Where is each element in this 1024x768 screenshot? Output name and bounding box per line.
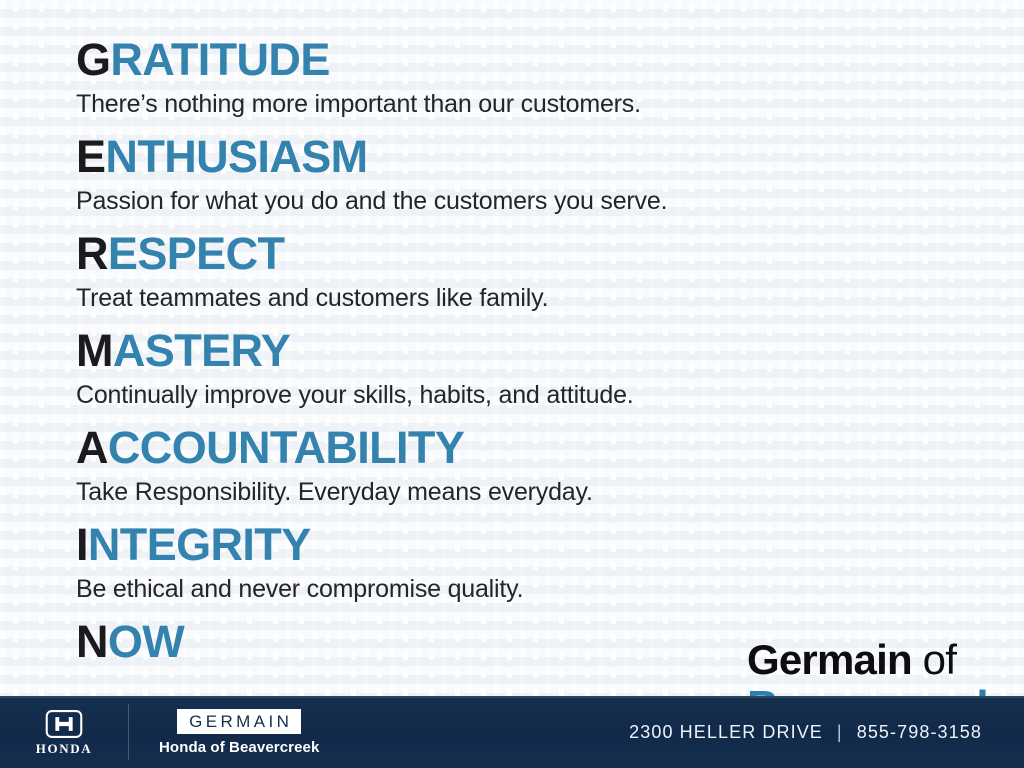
value-rest-letters: ESPECT: [108, 228, 284, 279]
germain-subtitle: Honda of Beavercreek: [159, 740, 319, 756]
value-item-integrity: INTEGRITY Be ethical and never compromis…: [76, 519, 1024, 605]
value-rest-letters: CCOUNTABILITY: [108, 422, 464, 473]
value-lead-letter: R: [76, 228, 108, 279]
footer-address: 2300 HELLER DRIVE: [629, 722, 823, 743]
value-rest-letters: NTEGRITY: [88, 519, 311, 570]
brand-name-light: of: [912, 636, 956, 683]
value-description-integrity: Be ethical and never compromise quality.: [76, 573, 1024, 605]
honda-logo: HONDA: [0, 709, 128, 755]
value-rest-letters: OW: [108, 616, 184, 667]
value-rest-letters: RATITUDE: [110, 34, 329, 85]
value-description-accountability: Take Responsibility. Everyday means ever…: [76, 476, 1024, 508]
value-lead-letter: E: [76, 131, 105, 182]
value-item-gratitude: GRATITUDE There’s nothing more important…: [76, 34, 1024, 120]
value-word-mastery: MASTERY: [76, 325, 1024, 377]
value-item-accountability: ACCOUNTABILITY Take Responsibility. Ever…: [76, 422, 1024, 508]
value-word-accountability: ACCOUNTABILITY: [76, 422, 1024, 474]
value-rest-letters: ASTERY: [113, 325, 290, 376]
honda-wordmark: HONDA: [36, 742, 92, 755]
value-description-mastery: Continually improve your skills, habits,…: [76, 379, 1024, 411]
germain-badge: GERMAIN: [177, 709, 301, 734]
value-word-integrity: INTEGRITY: [76, 519, 1024, 571]
value-lead-letter: M: [76, 325, 113, 376]
footer-phone[interactable]: 855-798-3158: [857, 722, 982, 743]
core-values-list: GRATITUDE There’s nothing more important…: [76, 34, 1024, 679]
value-lead-letter: G: [76, 34, 110, 85]
value-lead-letter: N: [76, 616, 108, 667]
value-description-enthusiasm: Passion for what you do and the customer…: [76, 185, 1024, 217]
value-item-enthusiasm: ENTHUSIASM Passion for what you do and t…: [76, 131, 1024, 217]
dealership-footer-bar: HONDA GERMAIN Honda of Beavercreek 2300 …: [0, 696, 1024, 768]
value-word-respect: RESPECT: [76, 228, 1024, 280]
brand-name-line: Germain of: [747, 636, 1000, 684]
value-item-respect: RESPECT Treat teammates and customers li…: [76, 228, 1024, 314]
value-word-enthusiasm: ENTHUSIASM: [76, 131, 1024, 183]
footer-contact-info: 2300 HELLER DRIVE | 855-798-3158: [629, 722, 982, 743]
honda-h-emblem-icon: [45, 709, 83, 739]
value-description-gratitude: There’s nothing more important than our …: [76, 88, 1024, 120]
footer-divider: [128, 704, 129, 760]
value-lead-letter: I: [76, 519, 88, 570]
value-rest-letters: NTHUSIASM: [105, 131, 367, 182]
value-word-gratitude: GRATITUDE: [76, 34, 1024, 86]
value-description-respect: Treat teammates and customers like famil…: [76, 282, 1024, 314]
value-lead-letter: A: [76, 422, 108, 473]
germain-logo: GERMAIN Honda of Beavercreek: [159, 709, 319, 756]
footer-separator: |: [837, 722, 843, 743]
value-item-mastery: MASTERY Continually improve your skills,…: [76, 325, 1024, 411]
brand-name-strong: Germain: [747, 636, 912, 683]
values-poster: GRATITUDE There’s nothing more important…: [0, 0, 1024, 768]
